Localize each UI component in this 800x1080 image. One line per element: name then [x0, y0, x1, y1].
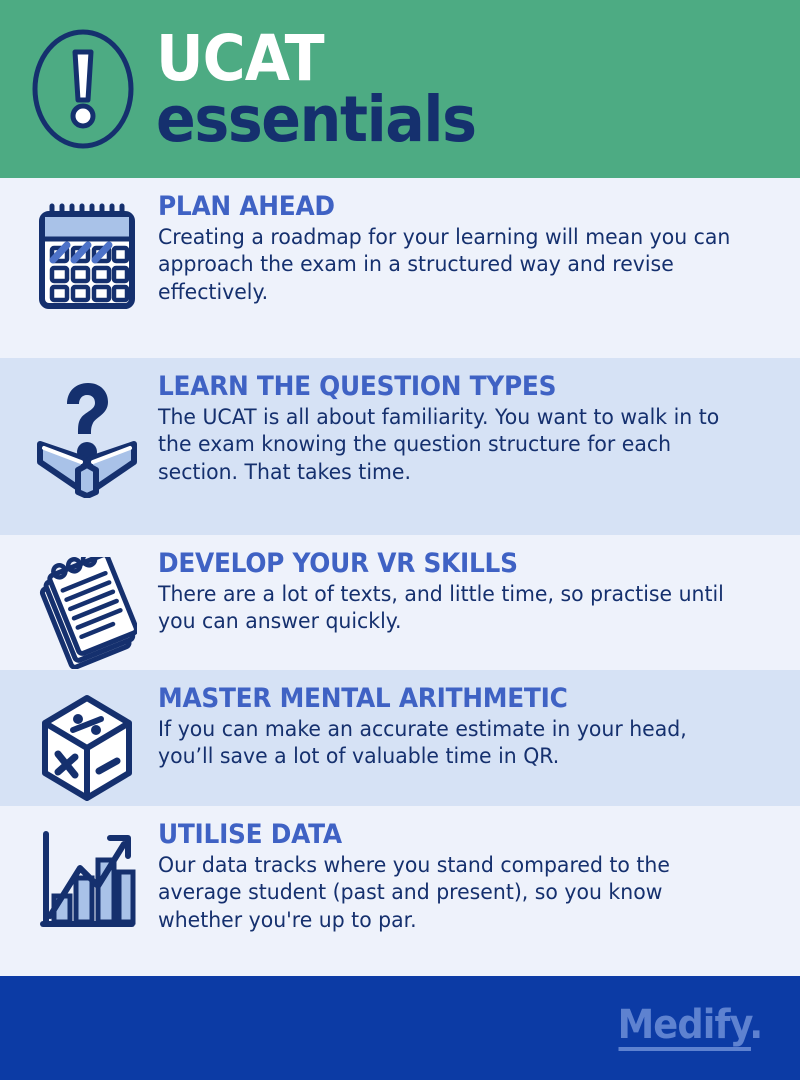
tip-body: If you can make an accurate estimate in …	[158, 716, 739, 771]
tip-text: MASTER MENTAL ARITHMETIC If you can make…	[150, 684, 776, 771]
tip-row-learn-question-types: LEARN THE QUESTION TYPES The UCAT is all…	[0, 358, 800, 535]
header-banner: UCAT essentials	[0, 0, 800, 178]
tip-text: LEARN THE QUESTION TYPES The UCAT is all…	[150, 372, 776, 486]
tip-row-utilise-data: UTILISE DATA Our data tracks where you s…	[0, 806, 800, 976]
infographic-page: UCAT essentials	[0, 0, 800, 1080]
tip-body: Creating a roadmap for your learning wil…	[158, 224, 739, 307]
tip-title: DEVELOP YOUR VR SKILLS	[158, 549, 721, 579]
tip-icon-wrapper	[24, 684, 150, 804]
tip-body: The UCAT is all about familiarity. You w…	[158, 404, 739, 487]
tip-row-plan-ahead: PLAN AHEAD Creating a roadmap for your l…	[0, 178, 800, 358]
page-title: UCAT	[156, 31, 476, 86]
medify-logo[interactable]: Medify.	[617, 1005, 762, 1051]
bar-chart-growth-icon	[36, 828, 138, 936]
tip-row-master-mental-arithmetic: MASTER MENTAL ARITHMETIC If you can make…	[0, 670, 800, 806]
tip-icon-wrapper	[24, 820, 150, 936]
footer-bar: Medify.	[0, 976, 800, 1080]
page-subtitle: essentials	[156, 92, 476, 147]
open-book-question-icon	[34, 380, 140, 498]
tip-icon-wrapper	[24, 192, 150, 312]
header-titles: UCAT essentials	[156, 31, 500, 148]
calendar-icon	[35, 200, 139, 312]
tip-text: DEVELOP YOUR VR SKILLS There are a lot o…	[150, 549, 776, 636]
tip-body: There are a lot of texts, and little tim…	[158, 581, 739, 636]
tip-title: UTILISE DATA	[158, 820, 721, 850]
tip-icon-wrapper	[24, 549, 150, 669]
tip-icon-wrapper	[24, 372, 150, 498]
tip-title: MASTER MENTAL ARITHMETIC	[158, 684, 721, 714]
tip-title: PLAN AHEAD	[158, 192, 721, 222]
tip-text: PLAN AHEAD Creating a roadmap for your l…	[150, 192, 776, 306]
tip-text: UTILISE DATA Our data tracks where you s…	[150, 820, 776, 934]
tip-body: Our data tracks where you stand compared…	[158, 852, 739, 935]
exclamation-circle-icon	[28, 24, 138, 154]
notepad-icon	[37, 557, 137, 669]
tip-row-develop-vr-skills: DEVELOP YOUR VR SKILLS There are a lot o…	[0, 535, 800, 670]
tips-list: PLAN AHEAD Creating a roadmap for your l…	[0, 178, 800, 976]
tip-title: LEARN THE QUESTION TYPES	[158, 372, 721, 402]
math-dice-cube-icon	[37, 692, 137, 804]
